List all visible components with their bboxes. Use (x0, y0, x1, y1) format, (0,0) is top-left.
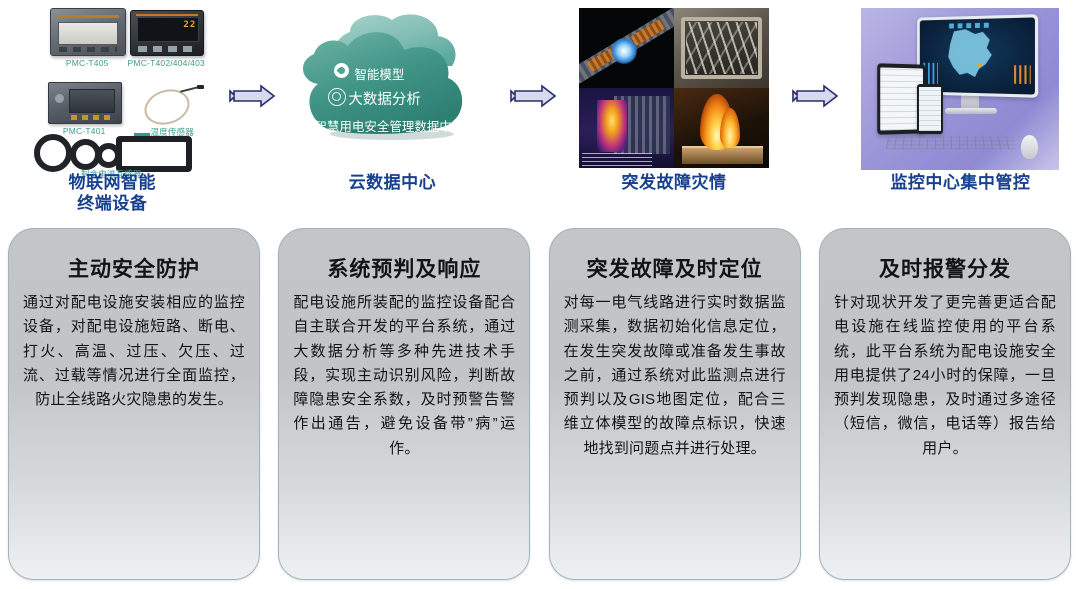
device-pmc-t402-image: 22 (130, 10, 204, 56)
photo-thermal-imaging (579, 88, 674, 168)
ct-ring-large (34, 134, 72, 172)
description-cards-row: 主动安全防护 通过对配电设施安装相应的监控设备，对配电设施短路、断电、打火、高温… (0, 228, 1079, 586)
stage-2-title-cell: 云数据中心 (279, 172, 506, 218)
description-card: 系统预判及响应 配电设施所装配的监控设备配合自主联合开发的平台系统，通过大数据分… (278, 228, 530, 580)
dashboard-bar-chart-left (924, 63, 939, 84)
card-title: 及时报警分发 (879, 253, 1011, 283)
card-title: 系统预判及响应 (327, 253, 481, 283)
dashboard-header-widgets (950, 23, 993, 29)
ct-rectangular (116, 136, 192, 172)
china-map-visual (946, 29, 994, 80)
title-spacer-1 (225, 172, 279, 218)
device-knob (55, 94, 64, 103)
monitor-base (945, 108, 997, 114)
stage-1-title-line-1: 物联网智能 (69, 172, 157, 193)
card-title: 主动安全防护 (68, 253, 200, 283)
stage-titles-row: 物联网智能 终端设备 云数据中心 突发故障灾情 监控中心集中管控 (0, 172, 1079, 218)
device-terminals (71, 115, 113, 120)
description-card: 突发故障及时定位 对每一电气线路进行实时数据监测采集，数据初始化信息定位，在发生… (549, 228, 801, 580)
device-label-pmc-t405: PMC-T405 (48, 58, 126, 68)
meter-buttons (59, 47, 117, 52)
photo-electrical-fire (674, 88, 769, 168)
stage-1-title-line-2: 终端设备 (69, 193, 157, 214)
arrow-right-icon (228, 84, 276, 108)
meter-reading-value: 22 (183, 20, 196, 30)
thermal-hotspot (597, 100, 627, 152)
device-pmc-t401-image (48, 82, 122, 124)
dashboard-bar-chart-right (1015, 65, 1032, 84)
meter-screen (58, 22, 118, 45)
title-spacer-3 (788, 172, 842, 218)
cloud-line-2: 大数据分析 (348, 88, 421, 109)
cloud-line-3: 智慧用电安全管理数据中心 (314, 116, 464, 135)
stage-3-title: 突发故障灾情 (622, 172, 727, 193)
arrow-right-icon (791, 84, 839, 108)
cloud-line-1: 智能模型 (354, 64, 404, 83)
card-body: 通过对配电设施安装相应的监控设备，对配电设施短路、断电、打火、高温、过压、欠压、… (23, 291, 245, 412)
stage-1-title: 物联网智能 终端设备 (69, 172, 157, 215)
fault-photo-grid (579, 8, 769, 168)
flame-secondary (720, 108, 740, 148)
title-spacer-2 (506, 172, 560, 218)
smartphone-device (917, 84, 943, 134)
device-face (69, 89, 115, 113)
description-card: 主动安全防护 通过对配电设施安装相应的监控设备，对配电设施短路、断电、打火、高温… (8, 228, 260, 580)
meter-top-strip (136, 14, 198, 16)
thermal-osd-readout (582, 150, 652, 166)
card-body: 对每一电气线路进行实时数据监测采集，数据初始化信息定位，在发生突发故障或准备发生… (564, 291, 786, 461)
device-label-pmc-t402: PMC-T402/404/403 (120, 58, 212, 68)
stage-1-title-cell: 物联网智能 终端设备 (0, 172, 225, 218)
card-body: 针对现状开发了更完善更适合配电设施在线监控使用的平台系统，此平台系统为配电设施安… (834, 291, 1056, 461)
stage-3-title-cell: 突发故障灾情 (560, 172, 787, 218)
infographic-root: PMC-T405 22 PMC-T402/404/403 PMC-T401 (0, 0, 1079, 589)
device-pmc-t405-image (50, 8, 126, 56)
phone-screen (919, 87, 941, 131)
device-photo-group: PMC-T405 22 PMC-T402/404/403 PMC-T401 (12, 4, 212, 174)
photo-burnt-distribution-box (674, 8, 769, 88)
stage-2-title: 云数据中心 (349, 172, 437, 193)
meter-top-bar (57, 15, 119, 18)
meter-buttons (138, 46, 196, 52)
stage-4-title: 监控中心集中管控 (890, 172, 1030, 193)
stage-4-title-cell: 监控中心集中管控 (842, 172, 1079, 218)
description-card: 及时报警分发 针对现状开发了更完善更适合配电设施在线监控使用的平台系统，此平台系… (819, 228, 1071, 580)
cloud-data-center-graphic: 智能模型 大数据分析 智慧用电安全管理数据中心 (292, 10, 492, 170)
keyboard (886, 136, 1017, 149)
monitoring-center-graphic (861, 8, 1059, 170)
residual-current-transformer-image (34, 132, 194, 166)
sensor-tip (197, 85, 204, 89)
card-title: 突发故障及时定位 (587, 253, 763, 283)
photo-arcing-cable (579, 8, 674, 88)
card-body: 配电设施所装配的监控设备配合自主联合开发的平台系统，通过大数据分析等多种先进技术… (293, 291, 515, 461)
temperature-sensor-image (138, 80, 204, 124)
cloud-shape-icon (292, 10, 492, 160)
burnt-wiring (686, 22, 757, 74)
arrow-right-icon (509, 84, 557, 108)
electric-arc-glow (611, 38, 637, 64)
mouse (1021, 135, 1038, 159)
